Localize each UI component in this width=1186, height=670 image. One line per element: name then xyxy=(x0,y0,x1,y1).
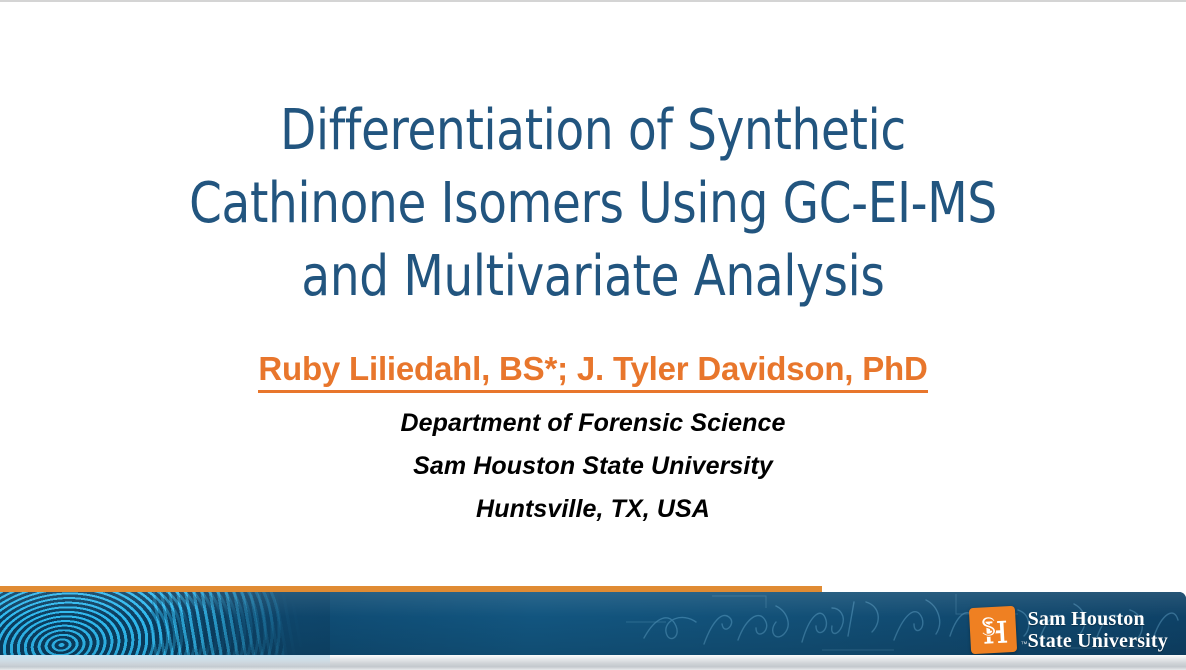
title-line-2: Cathinone Isomers Using GC-EI-MS xyxy=(97,167,1088,240)
shsu-wordmark-line-1: Sam Houston xyxy=(1028,608,1168,630)
shsu-wordmark-line-2: State University xyxy=(1028,630,1168,652)
affiliation-line-department: Department of Forensic Science xyxy=(0,402,1186,445)
banner-image-strip: ™ Sam Houston State University xyxy=(0,592,1186,655)
affiliation-block: Department of Forensic Science Sam Houst… xyxy=(0,402,1186,531)
title-line-3: and Multivariate Analysis xyxy=(97,240,1088,313)
title-line-1: Differentiation of Synthetic xyxy=(97,94,1088,167)
page-title: Differentiation of Synthetic Cathinone I… xyxy=(60,94,1126,313)
affiliation-line-location: Huntsville, TX, USA xyxy=(0,488,1186,531)
shsu-monogram-icon: ™ xyxy=(968,606,1016,654)
reflection-highlight xyxy=(0,655,330,670)
footer-banner: ™ Sam Houston State University xyxy=(0,586,1186,670)
authors-block: Ruby Liliedahl, BS*; J. Tyler Davidson, … xyxy=(0,350,1186,393)
shsu-wordmark: Sam Houston State University xyxy=(1028,608,1168,652)
affiliation-line-university: Sam Houston State University xyxy=(0,445,1186,488)
authors-line: Ruby Liliedahl, BS*; J. Tyler Davidson, … xyxy=(258,350,927,393)
banner-reflection-strip xyxy=(0,655,1186,670)
shsu-logo: ™ Sam Houston State University xyxy=(970,600,1168,655)
trademark-icon: ™ xyxy=(1020,641,1027,648)
title-slide: Differentiation of Synthetic Cathinone I… xyxy=(0,0,1186,670)
